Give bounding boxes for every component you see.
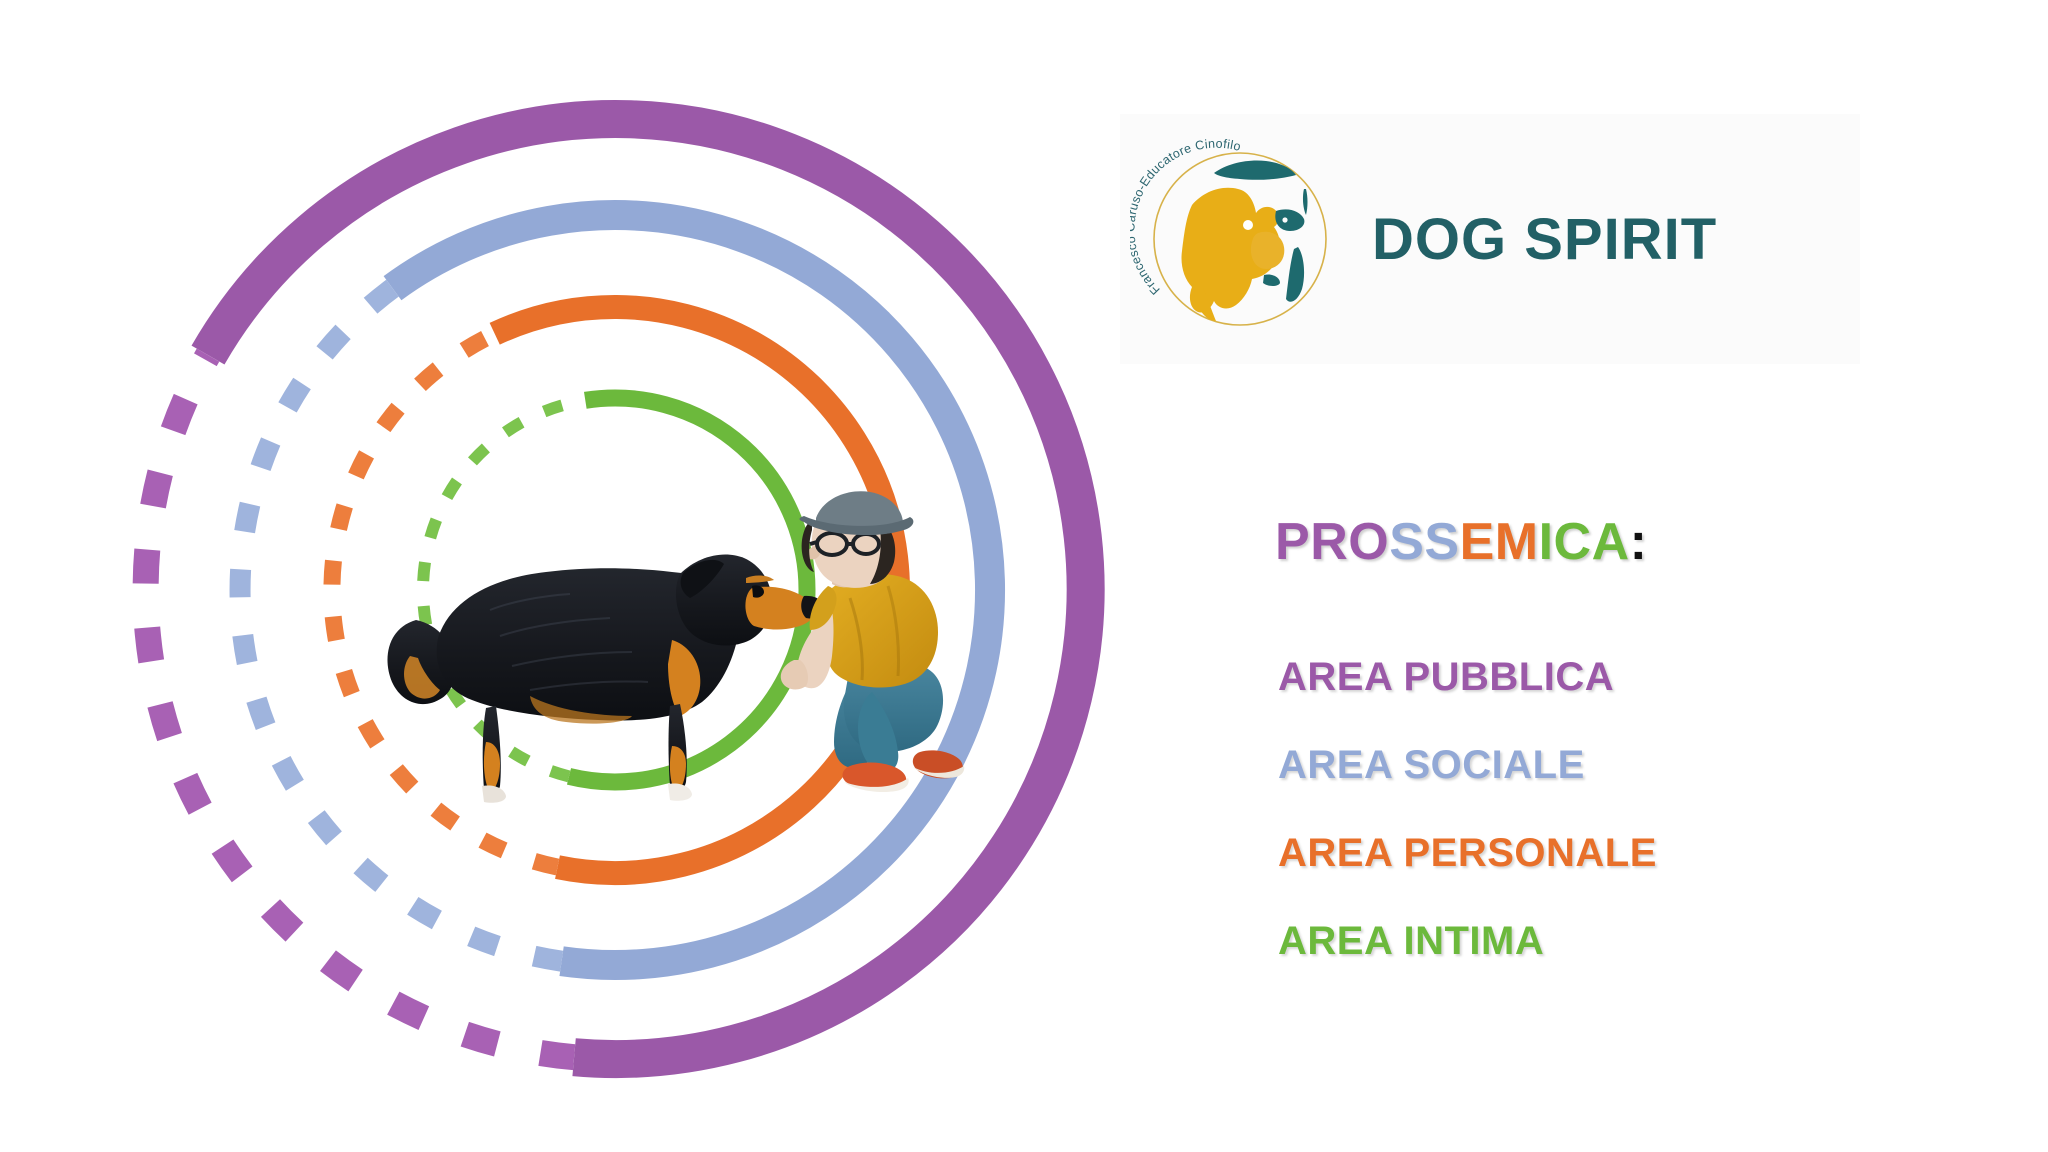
- page-title-letter-4: S: [1424, 513, 1459, 571]
- page-title-letter-1: R: [1310, 513, 1348, 571]
- logo-dog-teal-chin: [1263, 274, 1280, 286]
- dog-face-logo: Francesco Caruso-Educatore Cinofilo: [1130, 129, 1350, 349]
- dog-eyebrow-tan: [746, 576, 774, 583]
- logo-dog-whisker: [1303, 189, 1308, 215]
- logo-dog-teal-eye: [1275, 209, 1304, 231]
- logo-dog-highlight: [1243, 220, 1253, 230]
- page-title-letter-2: O: [1348, 513, 1389, 571]
- logo-svg: Francesco Caruso-Educatore Cinofilo: [1130, 129, 1350, 349]
- logo-dog-snout-gold: [1251, 232, 1284, 269]
- area-list-item-4: AREA INTIMA: [1278, 919, 1978, 964]
- page-title-letter-10: :: [1630, 513, 1648, 571]
- proxemic-rings-diagram: [80, 60, 1150, 1120]
- dog-hind-paw: [482, 785, 506, 802]
- proxemic-area-list: AREA PUBBLICAAREA SOCIALEAREA PERSONALEA…: [1278, 655, 1978, 964]
- dog-figure: [387, 555, 824, 803]
- page-title-letter-3: S: [1389, 513, 1424, 571]
- logo-dog-teal-head: [1214, 161, 1296, 180]
- logo-dog-eye-glint: [1282, 217, 1287, 222]
- illustration-svg: [380, 460, 1020, 820]
- page-title-letter-9: A: [1592, 513, 1630, 571]
- page-title-letter-0: P: [1275, 513, 1310, 571]
- person-shirt: [823, 574, 938, 688]
- logo-dog-teal-cheek: [1286, 247, 1304, 302]
- area-list-item-1: AREA PUBBLICA: [1278, 655, 1978, 700]
- dog-and-person-illustration: [380, 460, 1020, 820]
- page-title-letter-6: M: [1495, 513, 1539, 571]
- page-title-letter-5: E: [1460, 513, 1495, 571]
- person-hand: [781, 660, 808, 689]
- dog-front-paw: [668, 783, 692, 800]
- slide-root: Francesco Caruso-Educatore Cinofilo: [0, 0, 2048, 1152]
- brand-title: DOG SPIRIT: [1372, 206, 1717, 273]
- page-title-letter-8: C: [1554, 513, 1592, 571]
- person-figure: [781, 491, 964, 792]
- brand-header: Francesco Caruso-Educatore Cinofilo: [1120, 114, 1860, 364]
- area-list-item-2: AREA SOCIALE: [1278, 743, 1978, 788]
- page-title-letter-7: I: [1539, 513, 1554, 571]
- page-title: PROSSEMICA:: [1275, 512, 1648, 572]
- content-panel: Francesco Caruso-Educatore Cinofilo: [1120, 100, 2000, 1080]
- area-list-item-3: AREA PERSONALE: [1278, 831, 1978, 876]
